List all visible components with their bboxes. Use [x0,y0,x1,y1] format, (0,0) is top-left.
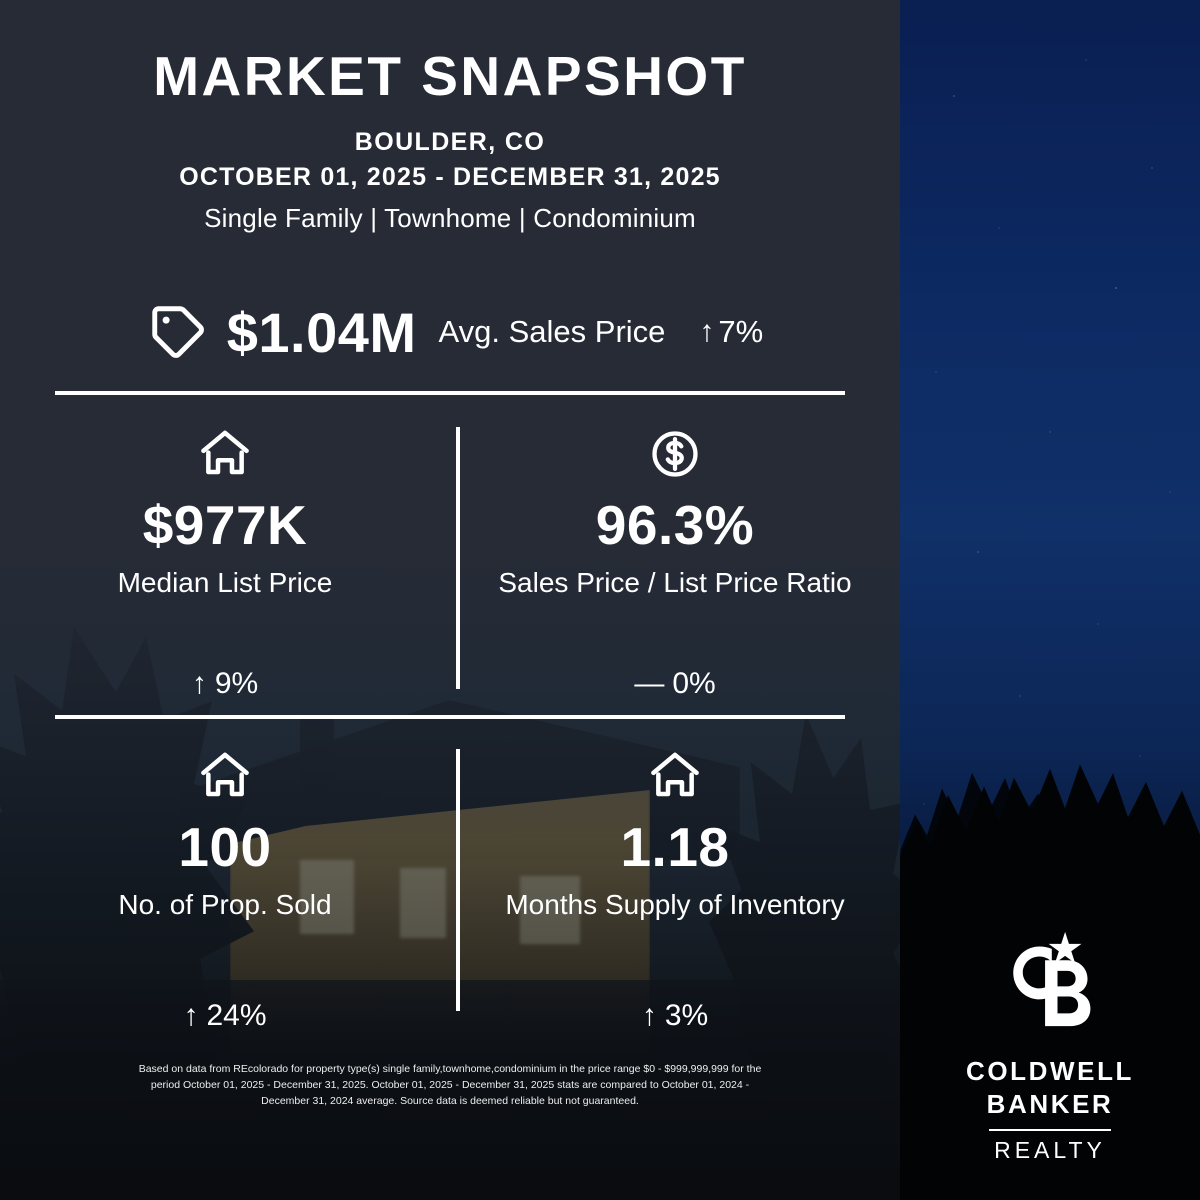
region-subtitle: BOULDER, CO [0,128,900,157]
metric-change: ↑ 3% [642,999,708,1039]
metric-change: ↑ 9% [192,667,258,715]
hero-metric-label: Avg. Sales Price [439,314,666,350]
metric-label: Median List Price [118,565,333,600]
date-range-subtitle: OCTOBER 01, 2025 - DECEMBER 31, 2025 [0,163,900,192]
metric-change-value: 9% [215,667,258,701]
market-snapshot-card: MARKET SNAPSHOT BOULDER, CO OCTOBER 01, … [0,0,1200,1200]
arrow-up-icon: ↑ [699,317,714,347]
price-tag-icon [147,301,209,363]
divider-middle [55,715,845,719]
brand-line-coldwell: COLDWELL [966,1056,1134,1087]
metric-sales-to-list-ratio: 96.3% Sales Price / List Price Ratio — 0… [450,425,900,715]
divider-vertical-row-1 [456,427,460,689]
metric-change-value: 3% [665,999,708,1033]
metric-properties-sold: 100 No. of Prop. Sold ↑ 24% [0,747,450,1039]
brand-line-banker: BANKER [987,1089,1114,1120]
cb-star-logo-icon [994,928,1106,1040]
metric-change-value: 24% [206,999,266,1033]
house-icon [648,747,702,803]
divider-top [55,391,845,395]
metric-median-list-price: $977K Median List Price ↑ 9% [0,425,450,715]
metrics-row-2: 100 No. of Prop. Sold ↑ 24% 1.18 [0,747,900,1039]
coldwell-banker-logo: COLDWELL BANKER REALTY [900,928,1200,1164]
hero-metric-avg-sales-price: $1.04M Avg. Sales Price ↑ 7% [0,300,900,365]
metric-value: 100 [178,815,271,879]
metric-change: ↑ 24% [183,999,266,1039]
stats-panel: MARKET SNAPSHOT BOULDER, CO OCTOBER 01, … [0,0,900,1200]
metric-label: Sales Price / List Price Ratio [498,565,851,600]
metric-value: 1.18 [620,815,729,879]
brand-panel: COLDWELL BANKER REALTY [900,0,1200,1200]
arrow-up-icon: ↑ [642,1001,657,1031]
brand-line-realty: REALTY [994,1137,1106,1164]
flat-dash-icon: — [634,669,664,699]
arrow-up-icon: ↑ [192,669,207,699]
arrow-up-icon: ↑ [183,1001,198,1031]
divider-vertical-row-2 [456,749,460,1011]
metrics-row-1: $977K Median List Price ↑ 9% [0,425,900,715]
metric-label: No. of Prop. Sold [118,887,331,922]
dollar-circle-icon [648,425,702,481]
metric-value: 96.3% [596,493,754,557]
brand-divider [989,1129,1111,1131]
hero-metric-change: ↑ 7% [699,314,763,350]
header: MARKET SNAPSHOT BOULDER, CO OCTOBER 01, … [0,0,900,234]
hero-metric-value: $1.04M [227,300,417,365]
disclaimer-text: Based on data from REcolorado for proper… [130,1061,770,1110]
house-icon [198,425,252,481]
metric-value: $977K [143,493,308,557]
hero-metric-change-value: 7% [718,314,763,350]
metric-months-supply-inventory: 1.18 Months Supply of Inventory ↑ 3% [450,747,900,1039]
metric-change-value: 0% [672,667,715,701]
page-title: MARKET SNAPSHOT [0,48,900,106]
metric-label: Months Supply of Inventory [505,887,844,922]
metric-change: — 0% [634,667,715,715]
house-icon [198,747,252,803]
property-types-subtitle: Single Family | Townhome | Condominium [0,203,900,234]
